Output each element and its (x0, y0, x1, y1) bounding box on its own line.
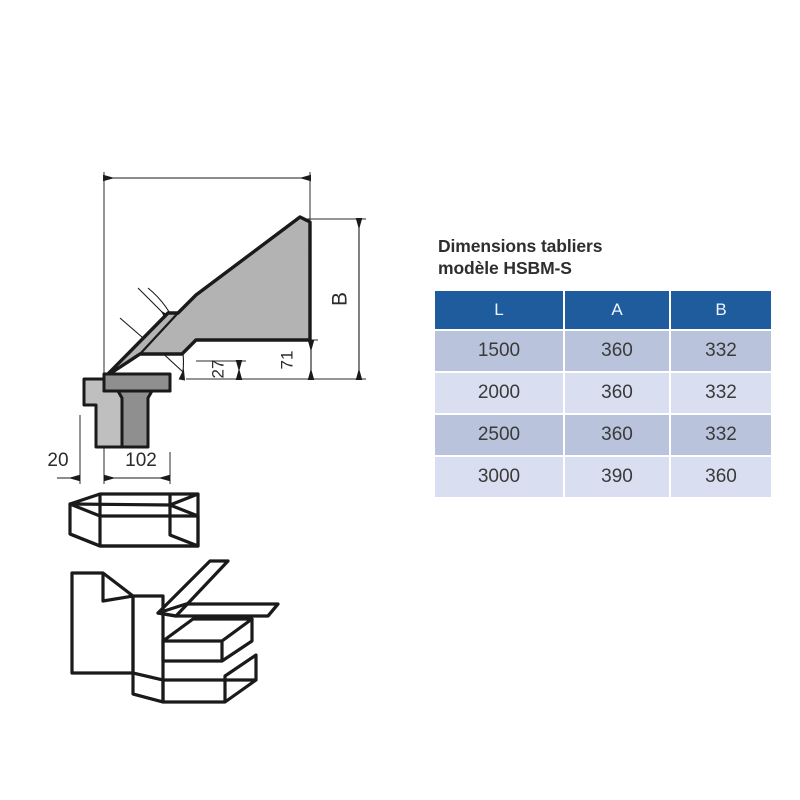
iso-folded-part (72, 573, 256, 702)
cell-b: 360 (671, 457, 771, 497)
table-header-row: L A B (435, 291, 771, 329)
cell-l: 2000 (435, 373, 563, 413)
table-row: 2000 360 332 (435, 373, 771, 413)
column-header-l: L (435, 291, 563, 329)
cell-a: 390 (565, 457, 669, 497)
dimension-label-27: 27 (208, 360, 227, 379)
dimension-label-102: 102 (125, 450, 157, 471)
dimension-label-20: 20 (47, 450, 68, 471)
cell-a: 360 (565, 373, 669, 413)
table-row: 3000 390 360 (435, 457, 771, 497)
dimension-label-71: 71 (277, 351, 296, 370)
page-root: B 71 27 20 102 (0, 0, 800, 800)
table-row: 2500 360 332 (435, 415, 771, 455)
column-header-b: B (671, 291, 771, 329)
cell-l: 2500 (435, 415, 563, 455)
table-row: 1500 360 332 (435, 331, 771, 371)
cell-b: 332 (671, 415, 771, 455)
dimension-label-b: B (329, 292, 352, 306)
cell-a: 360 (565, 415, 669, 455)
cell-l: 3000 (435, 457, 563, 497)
dimensions-table-block: Dimensions tabliers modèle HSBM-S L A B … (433, 236, 773, 499)
table-title: Dimensions tabliers modèle HSBM-S (438, 236, 773, 279)
cell-l: 1500 (435, 331, 563, 371)
cell-a: 360 (565, 331, 669, 371)
cell-b: 332 (671, 331, 771, 371)
iso-tray (70, 494, 198, 546)
dimensions-table: L A B 1500 360 332 2000 360 332 2500 (433, 289, 773, 499)
column-header-a: A (565, 291, 669, 329)
iso-vee-part (158, 561, 278, 616)
base-profile (84, 374, 170, 447)
cell-b: 332 (671, 373, 771, 413)
